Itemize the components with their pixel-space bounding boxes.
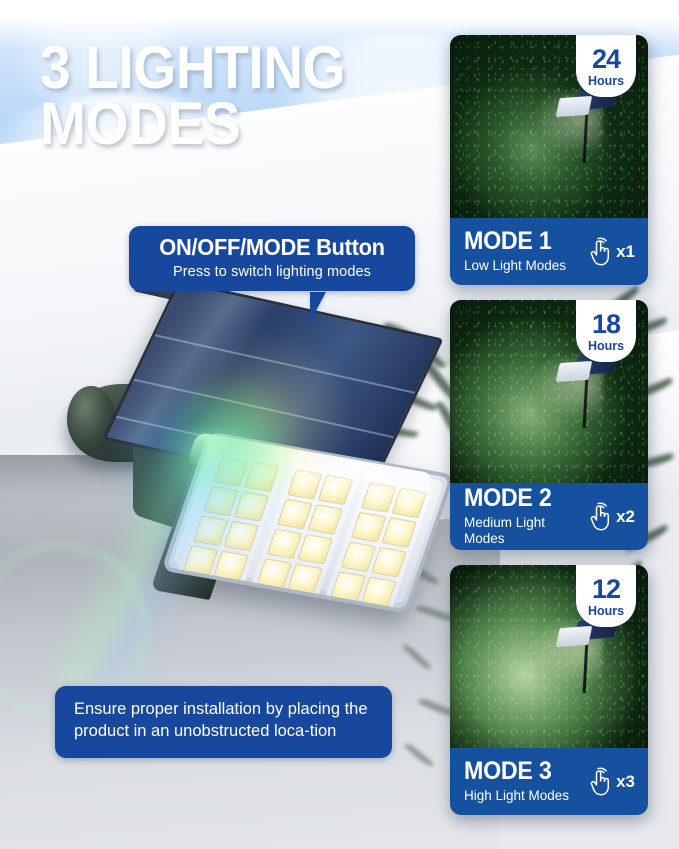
runtime-hours-value: 24 bbox=[592, 46, 620, 73]
spike-light bbox=[558, 87, 616, 165]
tap-hand-icon bbox=[587, 237, 614, 267]
mode-title: MODE 3 bbox=[464, 759, 562, 784]
page-title: 3 LIGHTING MODES bbox=[40, 40, 408, 152]
press-count: x2 bbox=[616, 507, 635, 527]
tap-hand-icon bbox=[587, 767, 614, 797]
runtime-hours-value: 18 bbox=[592, 311, 620, 338]
mode-button-callout: ON/OFF/MODE Button Press to switch light… bbox=[129, 226, 415, 291]
mode-card[interactable]: 18 Hours MODE 2 Medium Light Modes bbox=[450, 300, 648, 550]
runtime-badge: 24 Hours bbox=[576, 35, 636, 97]
mode-button-callout-title: ON/OFF/MODE Button bbox=[149, 235, 394, 261]
press-count: x1 bbox=[616, 242, 635, 262]
mode-photo: 12 Hours bbox=[450, 565, 648, 748]
tap-hand-icon bbox=[587, 502, 614, 532]
mode-title: MODE 2 bbox=[464, 486, 578, 511]
mode-card[interactable]: 12 Hours MODE 3 High Light Modes bbox=[450, 565, 648, 815]
solar-wall-light-product-image bbox=[55, 300, 435, 600]
runtime-hours-unit: Hours bbox=[588, 339, 624, 354]
runtime-badge: 18 Hours bbox=[576, 300, 636, 362]
mode-photo: 18 Hours bbox=[450, 300, 648, 483]
runtime-badge: 12 Hours bbox=[576, 565, 636, 627]
mode-title: MODE 1 bbox=[464, 229, 559, 254]
mode-photo: 24 Hours bbox=[450, 35, 648, 218]
mode-card-footer: MODE 2 Medium Light Modes x2 bbox=[450, 483, 648, 550]
mode-card-footer: MODE 1 Low Light Modes x1 bbox=[450, 218, 648, 285]
callout-pointer bbox=[310, 292, 340, 322]
runtime-hours-unit: Hours bbox=[588, 604, 624, 619]
runtime-hours-value: 12 bbox=[592, 576, 620, 603]
spike-led-head bbox=[556, 626, 593, 647]
mode-button-callout-subtitle: Press to switch lighting modes bbox=[143, 264, 401, 280]
installation-callout: Ensure proper installation by placing th… bbox=[55, 686, 392, 758]
spike-light bbox=[558, 617, 616, 695]
mode-description: Low Light Modes bbox=[464, 258, 566, 274]
runtime-hours-unit: Hours bbox=[588, 74, 624, 89]
mode-card-footer: MODE 3 High Light Modes x3 bbox=[450, 748, 648, 815]
mode-description: High Light Modes bbox=[464, 788, 569, 804]
installation-callout-text: Ensure proper installation by placing th… bbox=[74, 699, 373, 743]
mode-card[interactable]: 24 Hours MODE 1 Low Light Modes bbox=[450, 35, 648, 285]
spike-led-head bbox=[556, 96, 593, 117]
mount-cap bbox=[67, 386, 115, 452]
spike-light bbox=[558, 352, 616, 430]
spike-led-head bbox=[556, 361, 593, 382]
infographic-canvas: 3 LIGHTING MODES bbox=[0, 0, 679, 849]
mode-description: Medium Light Modes bbox=[464, 515, 587, 547]
press-count: x3 bbox=[616, 772, 635, 792]
